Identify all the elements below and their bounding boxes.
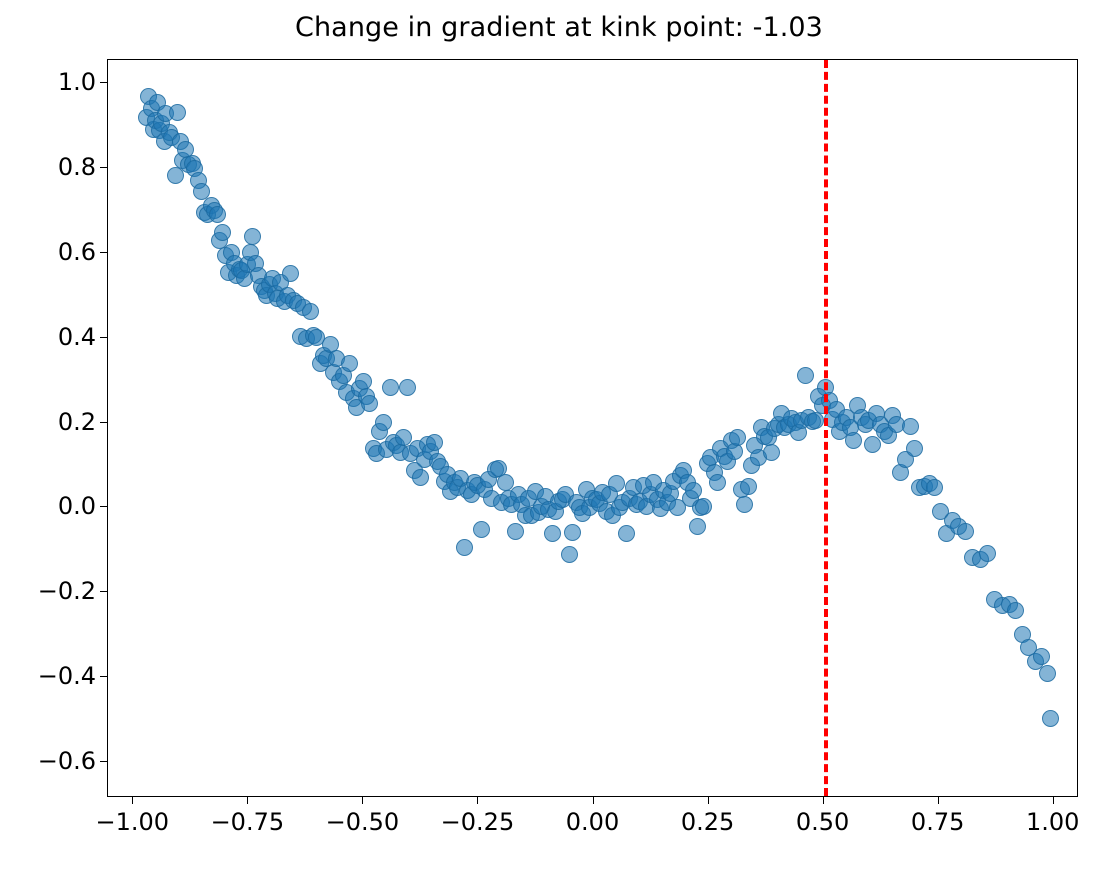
plot-area xyxy=(107,59,1078,797)
x-tick-label: −1.00 xyxy=(96,808,170,836)
y-tick-label: 0.8 xyxy=(58,153,96,181)
y-tick-mark xyxy=(100,422,107,423)
x-tick-label: 0.25 xyxy=(681,808,734,836)
y-tick-label: 1.0 xyxy=(58,68,96,96)
x-tick-label: 0.50 xyxy=(796,808,849,836)
x-tick-mark xyxy=(132,797,133,804)
x-tick-mark xyxy=(938,797,939,804)
y-tick-mark xyxy=(100,167,107,168)
y-tick-mark xyxy=(100,591,107,592)
y-tick-mark xyxy=(100,337,107,338)
x-tick-mark xyxy=(823,797,824,804)
y-tick-mark xyxy=(100,676,107,677)
y-tick-label: 0.2 xyxy=(58,408,96,436)
x-tick-label: 0.00 xyxy=(566,808,619,836)
y-tick-label: −0.2 xyxy=(38,577,96,605)
x-tick-label: −0.75 xyxy=(211,808,285,836)
y-tick-mark xyxy=(100,761,107,762)
x-tick-label: −0.25 xyxy=(441,808,515,836)
y-tick-label: 0.4 xyxy=(58,323,96,351)
y-tick-label: 0.0 xyxy=(58,492,96,520)
x-tick-label: 1.00 xyxy=(1026,808,1079,836)
x-tick-mark xyxy=(247,797,248,804)
kink-point-vline xyxy=(824,60,828,796)
y-tick-label: 0.6 xyxy=(58,238,96,266)
y-tick-mark xyxy=(100,252,107,253)
x-tick-mark xyxy=(708,797,709,804)
x-tick-mark xyxy=(362,797,363,804)
chart-title: Change in gradient at kink point: -1.03 xyxy=(0,12,1118,43)
x-tick-label: −0.50 xyxy=(326,808,400,836)
x-tick-label: 0.75 xyxy=(911,808,964,836)
y-tick-mark xyxy=(100,506,107,507)
y-tick-label: −0.4 xyxy=(38,662,96,690)
matplotlib-figure: Change in gradient at kink point: -1.03 … xyxy=(0,0,1118,869)
y-tick-label: −0.6 xyxy=(38,747,96,775)
x-tick-mark xyxy=(1053,797,1054,804)
y-tick-mark xyxy=(100,82,107,83)
kink-annotation-layer xyxy=(108,60,1077,796)
x-tick-mark xyxy=(477,797,478,804)
x-tick-mark xyxy=(593,797,594,804)
